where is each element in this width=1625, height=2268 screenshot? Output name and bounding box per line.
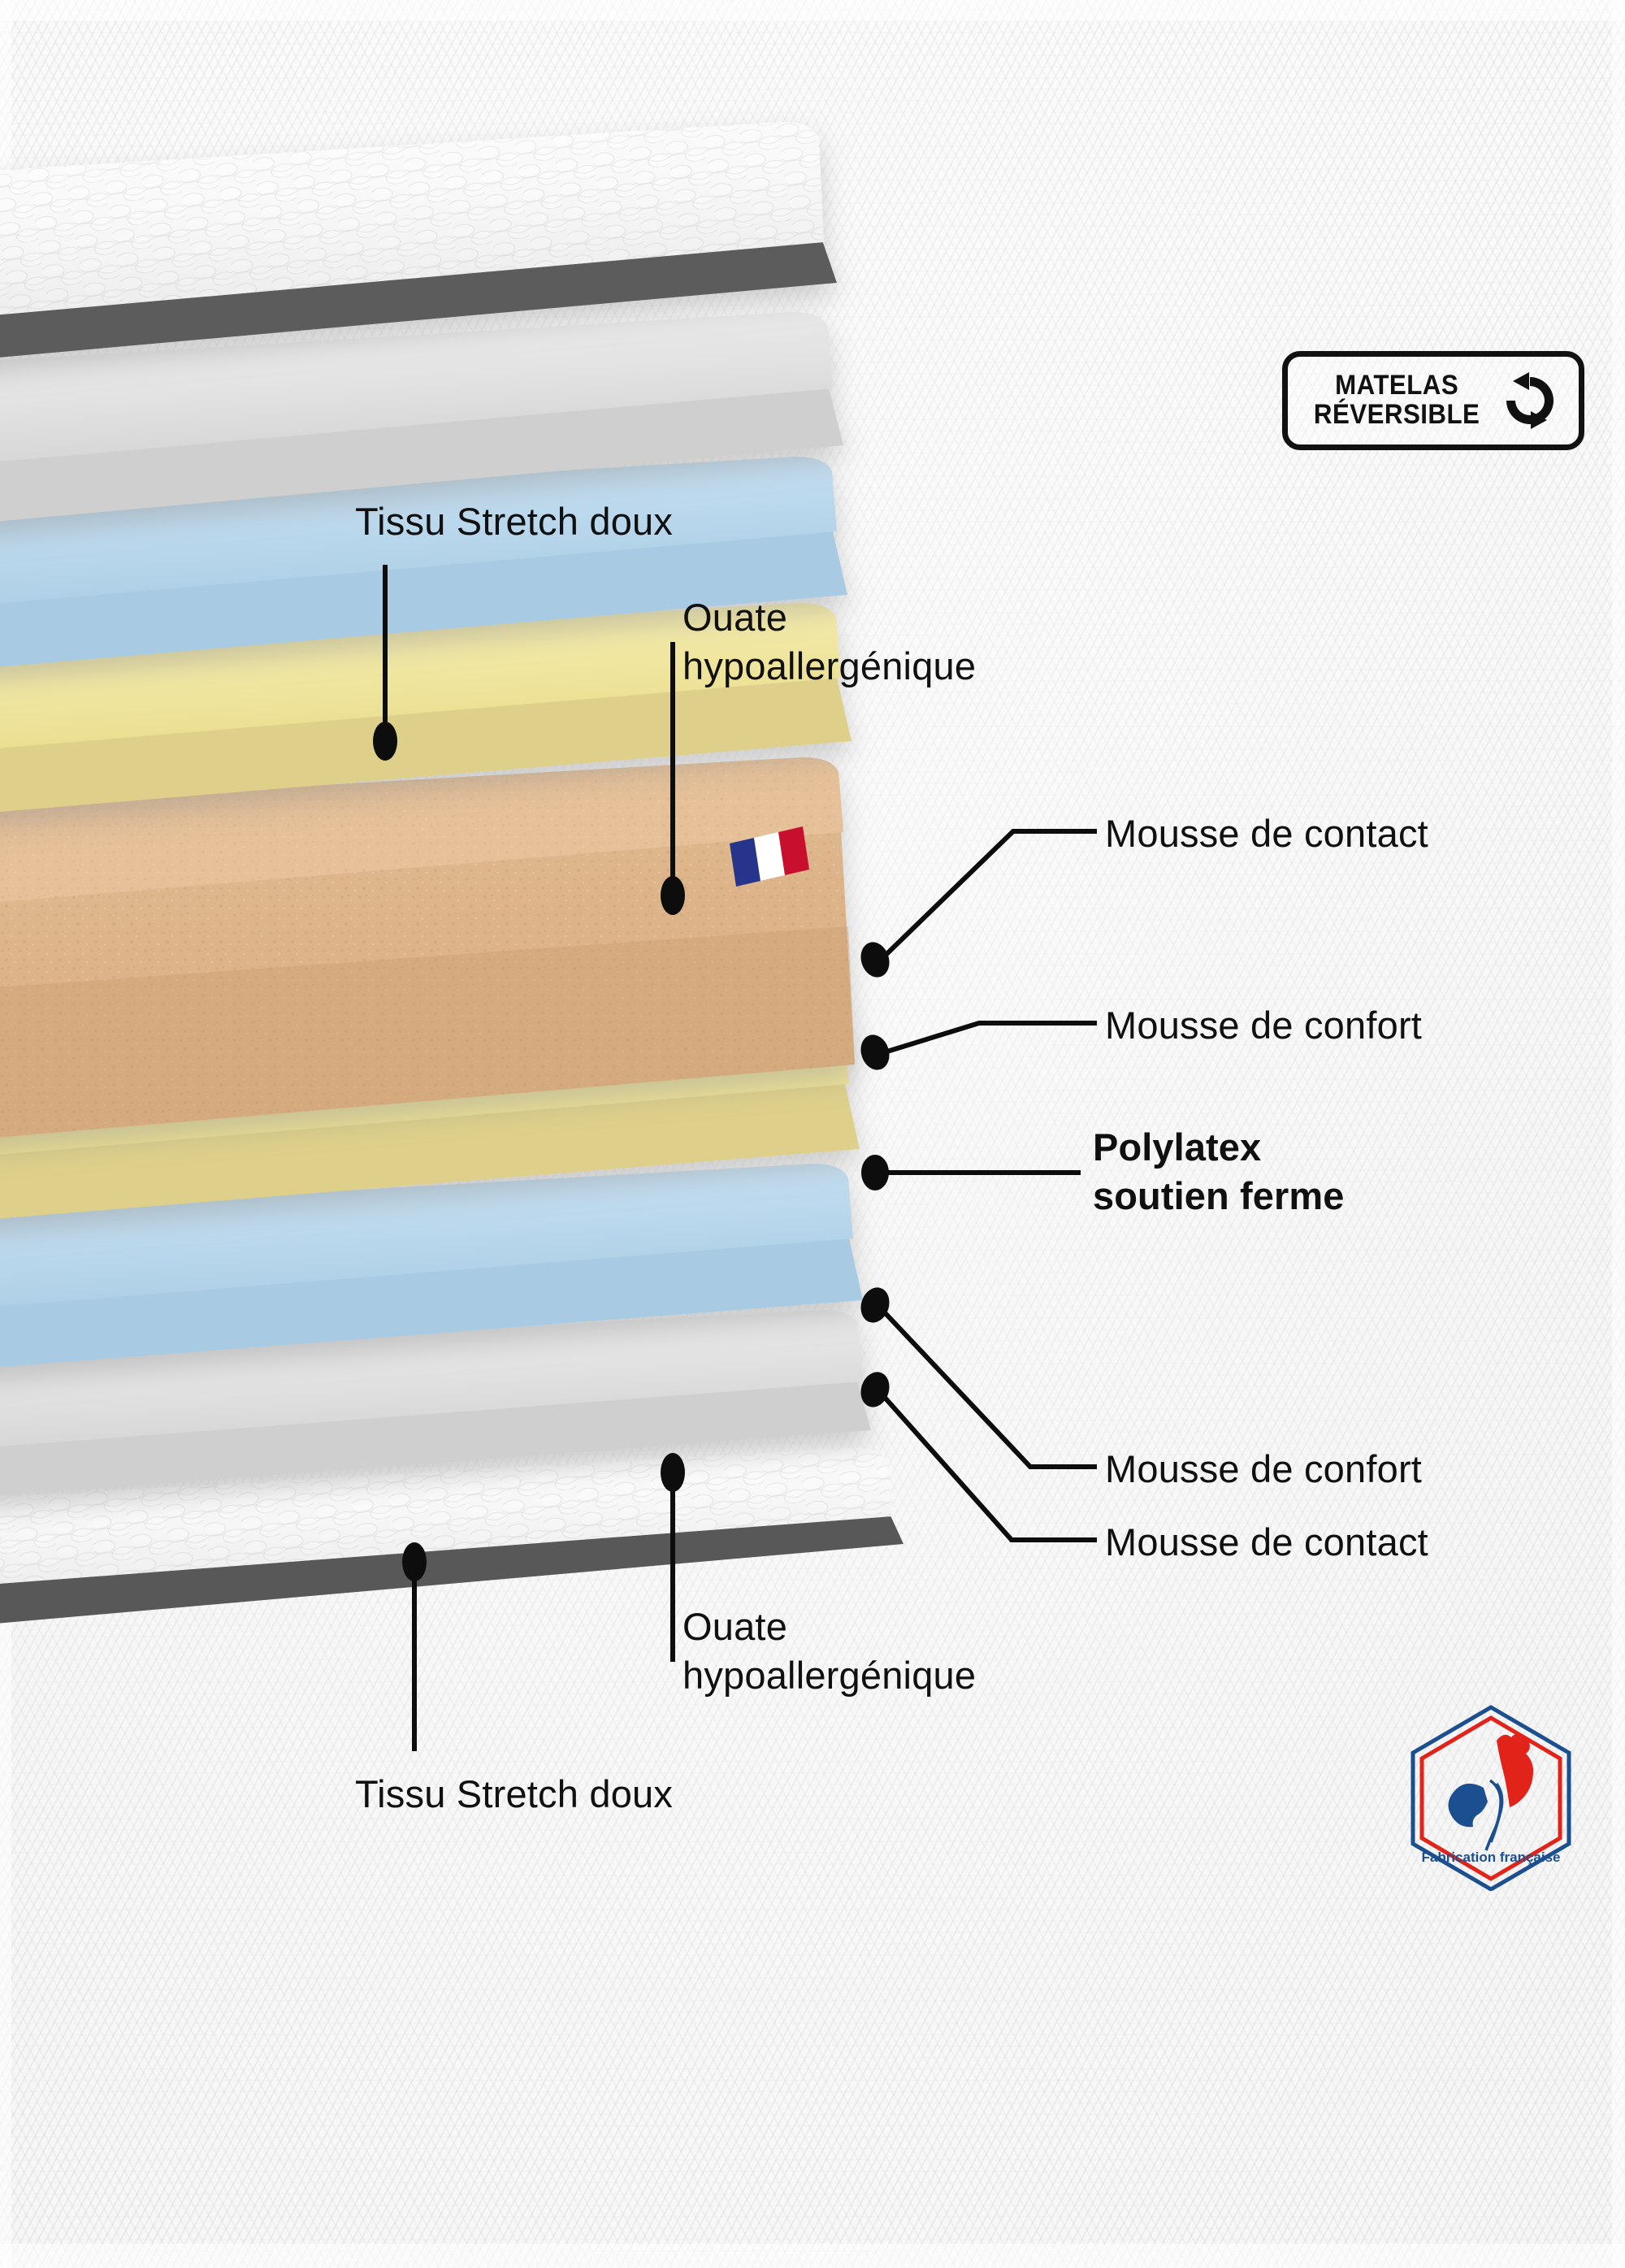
fabrication-francaise-logo: Fabrication française bbox=[1406, 1702, 1576, 1891]
label-top-tissu-stretch-doux: Tissu Stretch doux bbox=[355, 497, 673, 546]
logo-caption: Fabrication française bbox=[1421, 1850, 1560, 1865]
label-bottom-tissu-stretch-doux: Tissu Stretch doux bbox=[355, 1770, 673, 1819]
label-top-mousse-de-confort: Mousse de confort bbox=[1105, 1001, 1422, 1050]
label-bottom-mousse-de-confort: Mousse de confort bbox=[1105, 1445, 1422, 1494]
matelas-reversible-badge: MATELAS RÉVERSIBLE bbox=[1282, 351, 1584, 450]
mattress-layer-stack bbox=[0, 0, 1016, 2268]
mattress-layers-infographic: Tissu Stretch doux Ouate hypoallergéniqu… bbox=[0, 0, 1625, 2268]
page-margin-right bbox=[1612, 0, 1625, 2268]
label-bottom-mousse-de-contact: Mousse de contact bbox=[1105, 1518, 1428, 1567]
label-top-ouate-hypoallergenique: Ouate hypoallergénique bbox=[682, 593, 976, 691]
recycle-loop-icon bbox=[1500, 371, 1560, 431]
label-bottom-ouate-hypoallergenique: Ouate hypoallergénique bbox=[682, 1602, 976, 1700]
label-top-mousse-de-contact: Mousse de contact bbox=[1105, 809, 1428, 858]
label-polylatex-soutien-ferme: Polylatex soutien ferme bbox=[1093, 1123, 1345, 1221]
badge-label: MATELAS RÉVERSIBLE bbox=[1314, 371, 1480, 429]
